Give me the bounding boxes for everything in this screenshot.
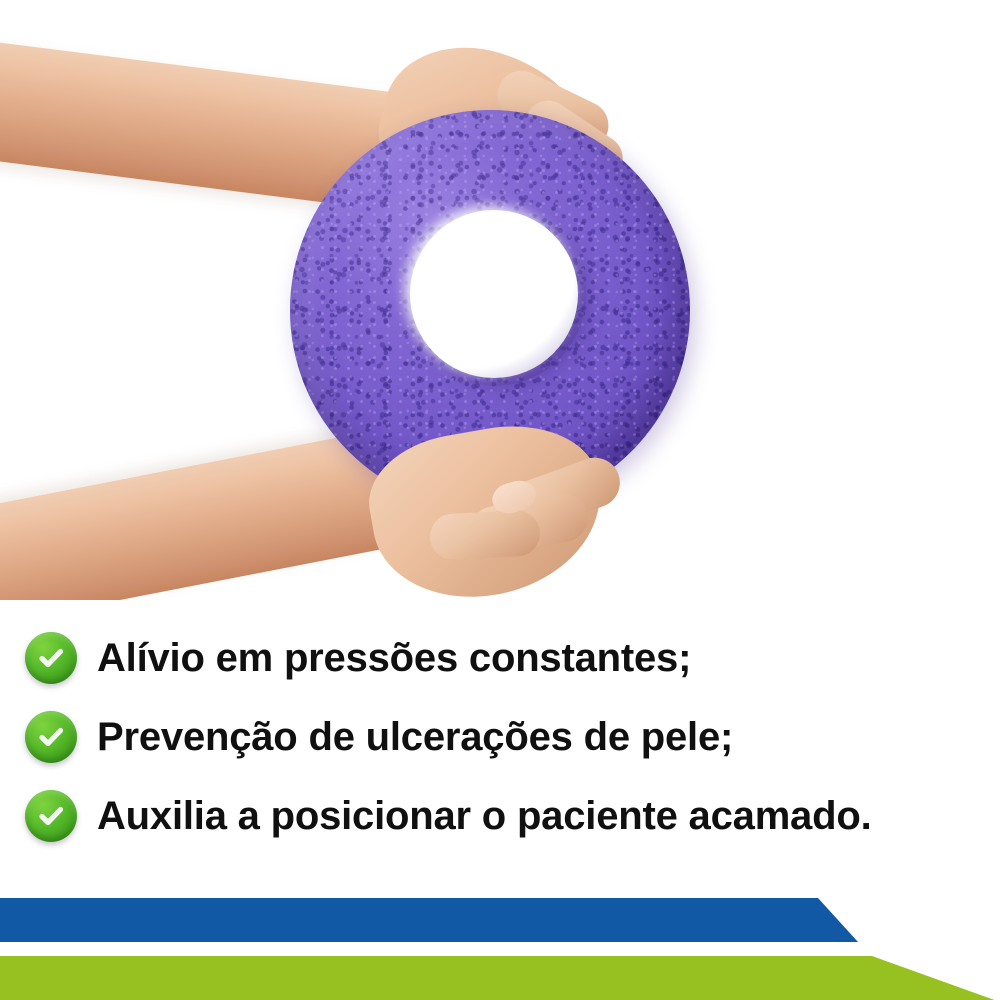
blue-accent-bar [0,898,1000,942]
check-circle-icon [25,711,77,763]
green-accent-bar [0,956,1000,1000]
product-photo [0,0,1000,600]
benefit-label: Alívio em pressões constantes; [97,638,691,678]
lower-hand-finger [429,509,541,561]
benefit-item: Prevenção de ulcerações de pele; [0,697,1000,776]
benefit-label: Auxilia a posicionar o paciente acamado. [97,796,871,836]
check-circle-icon [25,632,77,684]
benefit-item: Alívio em pressões constantes; [0,618,1000,697]
product-banner: Alívio em pressões constantes; Prevenção… [0,0,1000,1000]
benefits-list: Alívio em pressões constantes; Prevenção… [0,618,1000,855]
benefit-item: Auxilia a posicionar o paciente acamado. [0,776,1000,855]
benefit-label: Prevenção de ulcerações de pele; [97,717,733,757]
check-circle-icon [25,790,77,842]
foam-ring-center-hole [410,210,578,378]
